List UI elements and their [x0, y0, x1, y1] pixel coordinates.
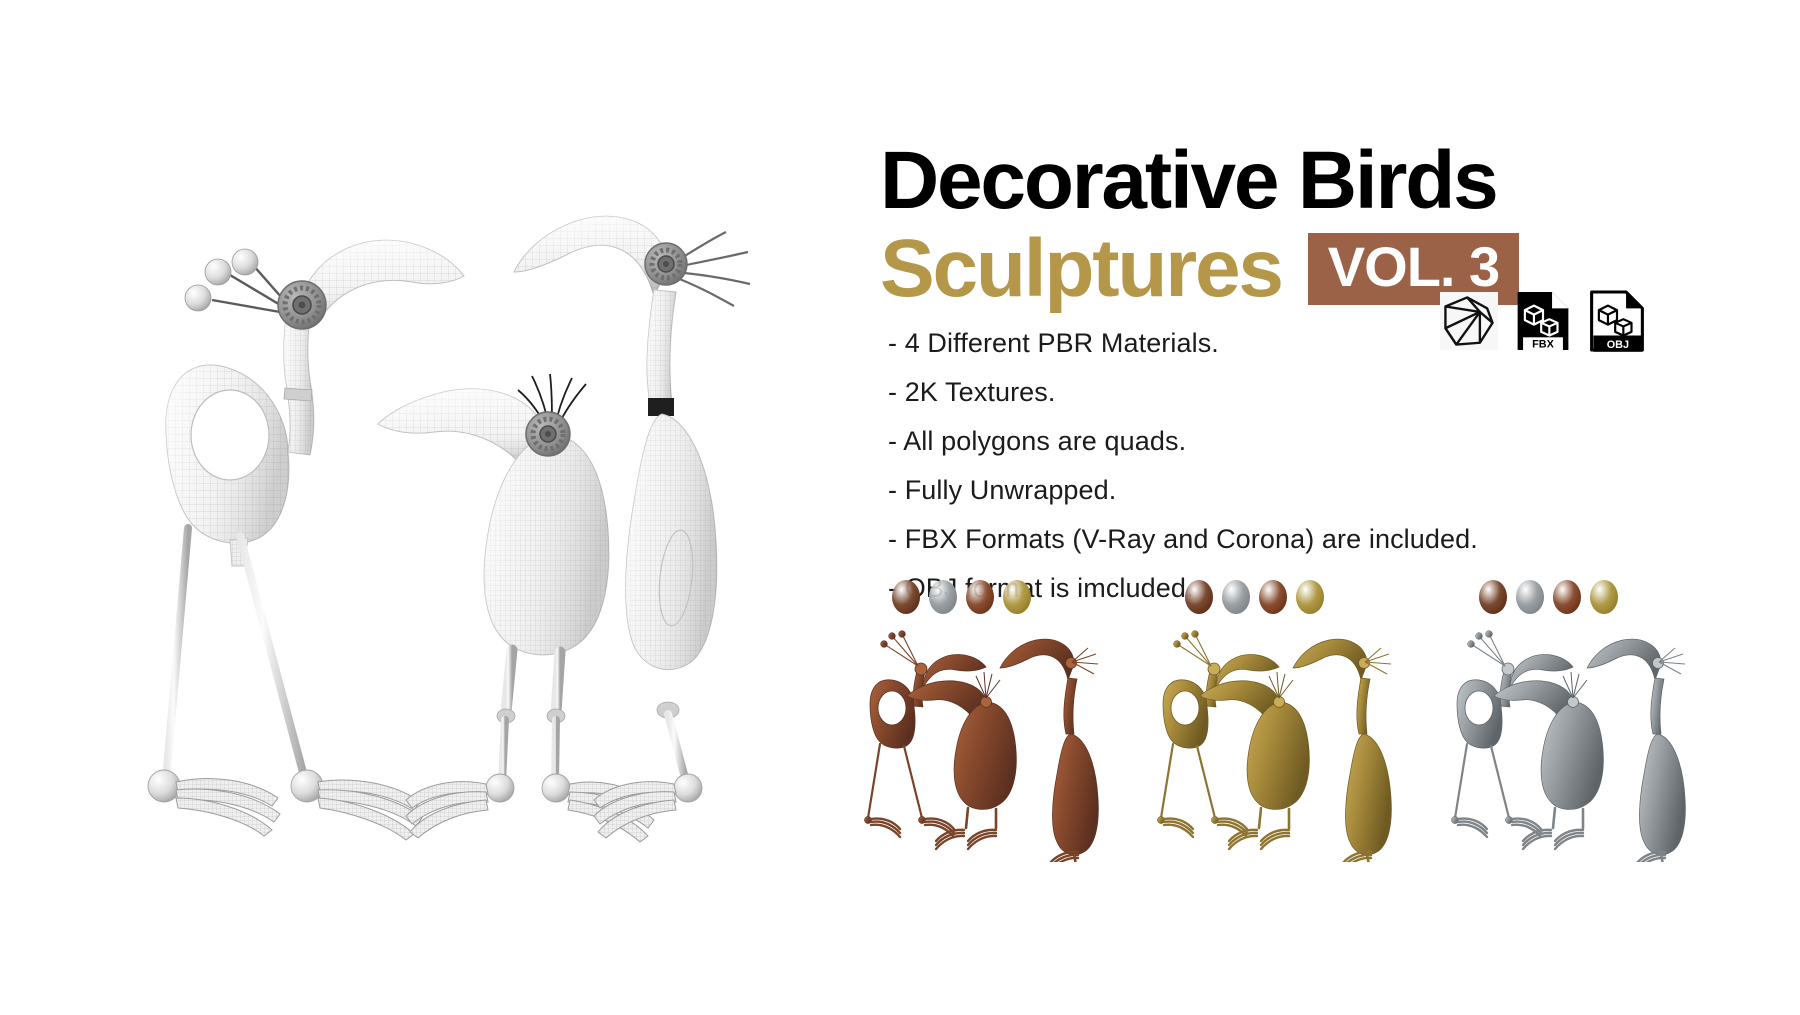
- swatch-row: [1479, 580, 1618, 614]
- material-variant-gallery: [860, 580, 1740, 880]
- swatch-row: [892, 580, 1031, 614]
- mini-body-2: [954, 702, 1016, 809]
- beak-right: [514, 216, 668, 296]
- wireframe-birds-svg: [0, 0, 940, 1010]
- foot-joint: [148, 770, 180, 802]
- feature-item: - All polygons are quads.: [888, 428, 1688, 455]
- body-center: [484, 434, 609, 655]
- swatch-gold: [1590, 580, 1618, 614]
- neck-band: [648, 398, 674, 416]
- leg-center-1b: [502, 720, 505, 782]
- variant-birds-rust: [860, 622, 1154, 862]
- swatch-copper: [1553, 580, 1581, 614]
- swatch-copper: [1259, 580, 1287, 614]
- swatch-chrome: [1222, 580, 1250, 614]
- eye-center: [526, 412, 570, 456]
- mini-eye-2: [1567, 697, 1578, 708]
- variant-birds-steel: [1447, 622, 1741, 862]
- variant-group-rust: [860, 580, 1153, 880]
- body-right: [626, 414, 717, 670]
- swatch-gold: [1003, 580, 1031, 614]
- mini-neck-3: [1650, 678, 1663, 734]
- swatch-copper: [966, 580, 994, 614]
- leg-left-2: [240, 536, 305, 780]
- page-title: Decorative Birds: [880, 140, 1680, 222]
- mini-body-3: [1346, 734, 1392, 855]
- foot-left-2: [318, 780, 422, 840]
- variant-group-steel: [1447, 580, 1740, 880]
- feature-item: - FBX Formats (V-Ray and Corona) are inc…: [888, 526, 1688, 553]
- crest-ball: [205, 259, 231, 285]
- mini-body-2: [1541, 702, 1603, 809]
- swatch-gold: [1296, 580, 1324, 614]
- swatch-chrome: [929, 580, 957, 614]
- title-block: Decorative Birds Sculptures VOL. 3: [880, 140, 1680, 310]
- eye-left: [278, 281, 326, 329]
- leg-center-2: [556, 652, 560, 712]
- feature-item: - Fully Unwrapped.: [888, 477, 1688, 504]
- foot-joint: [674, 774, 702, 802]
- mini-beak-3: [1000, 639, 1074, 680]
- leg-center-2b: [555, 720, 556, 782]
- foot-joint: [542, 774, 570, 802]
- foot-center-1: [406, 782, 488, 838]
- variant-group-brass: [1153, 580, 1446, 880]
- page-subtitle: Sculptures: [880, 228, 1282, 310]
- swatch-row: [1185, 580, 1324, 614]
- promo-canvas: Decorative Birds Sculptures VOL. 3: [0, 0, 1800, 1010]
- foot-left-1: [176, 779, 280, 836]
- body-left: [166, 365, 289, 543]
- leg-left-1: [166, 528, 188, 780]
- crest-ball: [185, 285, 211, 311]
- mini-eye-2: [1274, 697, 1285, 708]
- swatch-chrome: [1516, 580, 1544, 614]
- mini-beak-3: [1587, 639, 1661, 680]
- leg-center-1: [506, 650, 512, 712]
- feature-item: - 2K Textures.: [888, 379, 1688, 406]
- crest-ball: [232, 249, 258, 275]
- wireframe-render-panel: [0, 0, 940, 1010]
- swatch-rust: [892, 580, 920, 614]
- mini-eye-2: [981, 697, 992, 708]
- info-panel: Decorative Birds Sculptures VOL. 3: [940, 0, 1800, 1010]
- mini-body-3: [1052, 734, 1098, 855]
- leg-right-1b: [668, 714, 686, 782]
- neck-ring: [284, 388, 312, 401]
- mini-body-2: [1247, 702, 1309, 809]
- variant-birds-brass: [1153, 622, 1447, 862]
- mini-neck-3: [1357, 678, 1370, 734]
- swatch-rust: [1479, 580, 1507, 614]
- mini-beak-3: [1293, 639, 1367, 680]
- bird-left: [148, 240, 464, 840]
- mini-body-3: [1639, 734, 1685, 855]
- swatch-rust: [1185, 580, 1213, 614]
- foot-joint: [486, 774, 514, 802]
- foot-joint: [291, 770, 323, 802]
- mini-neck-3: [1064, 678, 1077, 734]
- eye-right: [645, 243, 687, 285]
- bird-center: [378, 374, 654, 842]
- feature-item: - 4 Different PBR Materials.: [888, 330, 1688, 357]
